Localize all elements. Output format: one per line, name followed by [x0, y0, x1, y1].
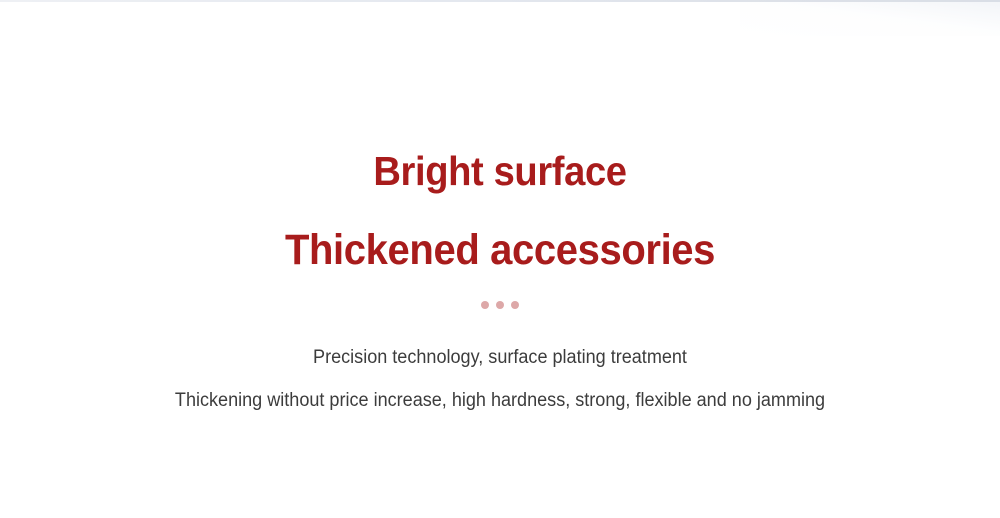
divider-dot-icon — [511, 301, 519, 309]
subtitle-line-1: Precision technology, surface plating tr… — [25, 344, 975, 371]
headline-line-2: Thickened accessories — [35, 224, 965, 277]
divider-dot-icon — [481, 301, 489, 309]
product-feature-banner: Bright surface Thickened accessories Pre… — [0, 0, 1000, 518]
subtitle-line-2: Thickening without price increase, high … — [25, 387, 975, 414]
top-right-glow — [740, 2, 1000, 36]
divider-dot-icon — [496, 301, 504, 309]
dot-divider — [0, 300, 1000, 310]
headline-line-1: Bright surface — [35, 146, 965, 196]
top-edge-rule — [0, 0, 1000, 2]
